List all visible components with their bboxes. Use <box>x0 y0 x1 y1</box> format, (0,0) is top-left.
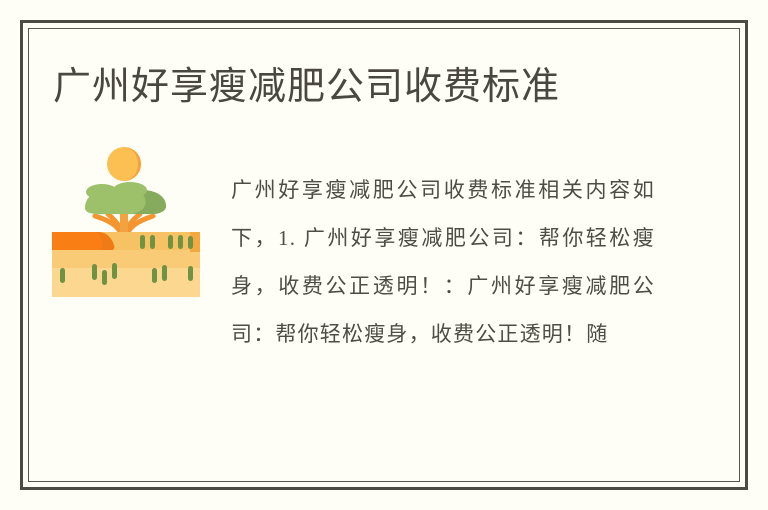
sun-icon <box>107 147 141 181</box>
page-root: 广州好享瘦减肥公司收费标准 <box>0 0 768 510</box>
article-body: 广州好享瘦减肥公司收费标准相关内容如下，1. 广州好享瘦减肥公司：帮你轻松瘦身，… <box>231 166 655 358</box>
page-title: 广州好享瘦减肥公司收费标准 <box>53 62 693 112</box>
ground-layers <box>52 232 200 297</box>
savanna-illustration-svg <box>52 146 200 297</box>
savanna-illustration <box>52 146 200 297</box>
